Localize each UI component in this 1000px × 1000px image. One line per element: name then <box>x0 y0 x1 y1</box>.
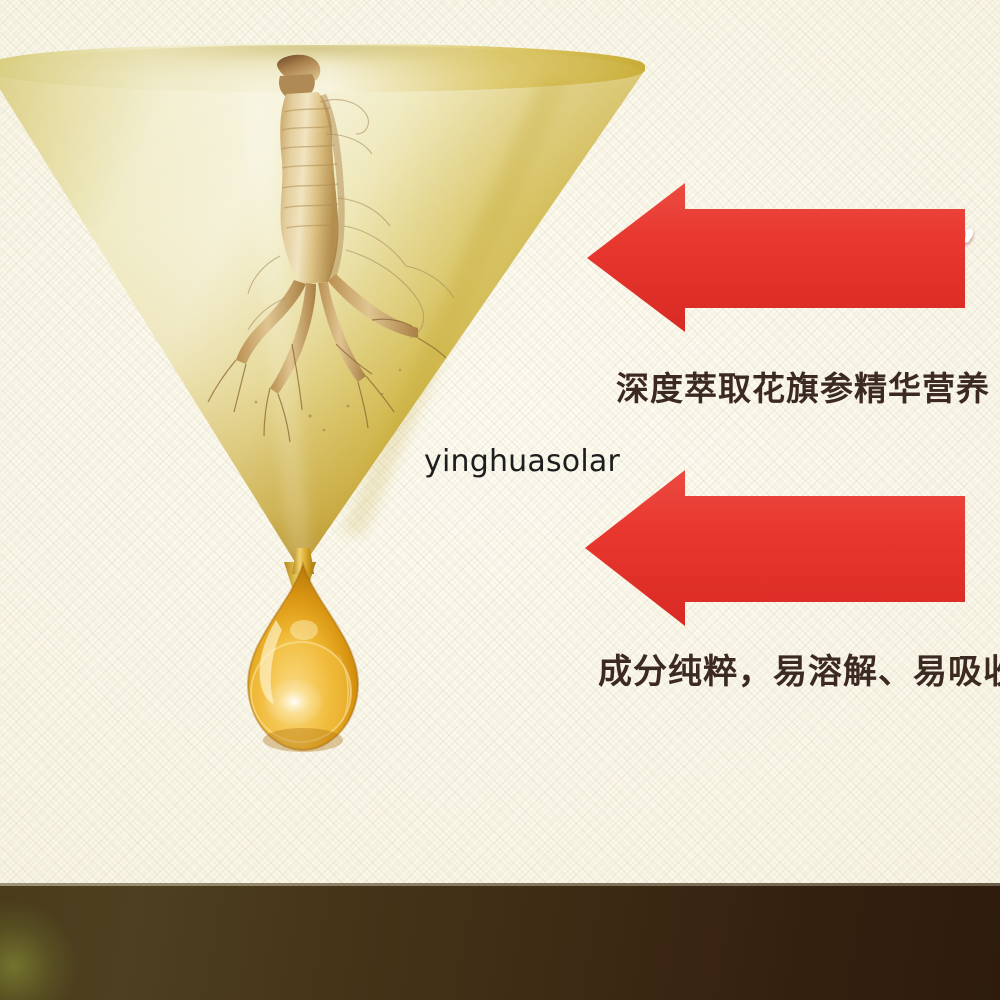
ginseng-root <box>160 50 500 470</box>
bottom-band-divider <box>0 883 1000 886</box>
callout-caption-2: 成分纯粹，易溶解、易吸收 <box>598 644 1000 693</box>
watermark-text: yinghuasolar <box>424 444 620 479</box>
oil-droplet <box>218 548 388 768</box>
callout-caption-1: 深度萃取花旗参精华营养 <box>616 362 990 410</box>
callout-arrow-2 <box>583 466 967 628</box>
bottom-band <box>0 886 1000 1000</box>
callout-arrow-1 <box>585 180 967 334</box>
poster-canvas: yinghuasolar 长时间“酒浸” 深度萃取花旗参精华营养 <box>0 0 1000 1000</box>
